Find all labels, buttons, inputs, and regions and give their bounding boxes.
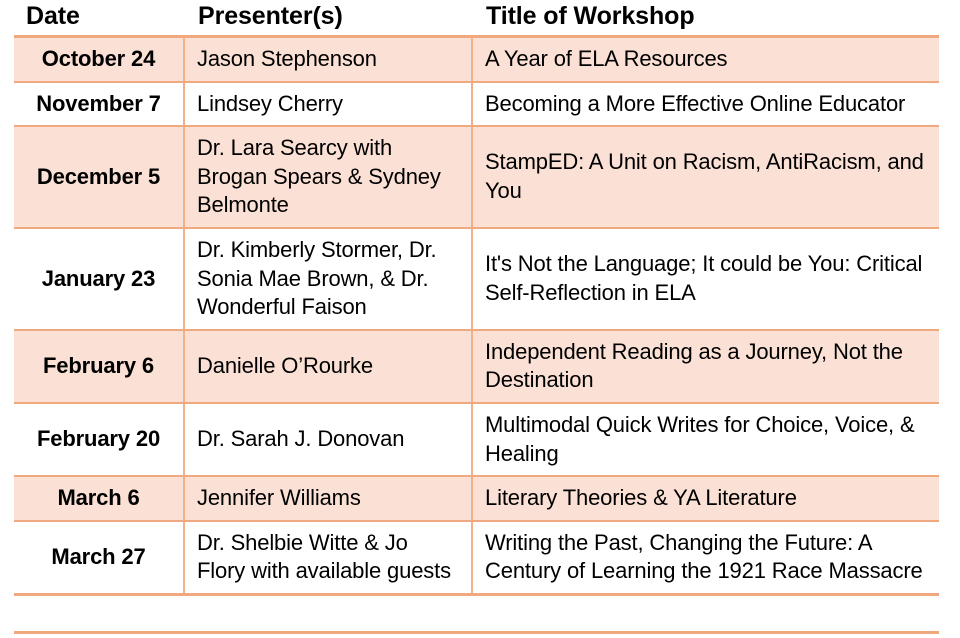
cell-date: February 20 bbox=[14, 403, 184, 476]
cell-title: Writing the Past, Changing the Future: A… bbox=[472, 521, 939, 595]
table-row: March 6 Jennifer Williams Literary Theor… bbox=[14, 476, 939, 521]
header-row: Date Presenter(s) Title of Workshop bbox=[14, 2, 939, 37]
cell-date: January 23 bbox=[14, 228, 184, 330]
table-row: February 20 Dr. Sarah J. Donovan Multimo… bbox=[14, 403, 939, 476]
table-header: Date Presenter(s) Title of Workshop bbox=[14, 2, 939, 37]
workshop-schedule-table: Date Presenter(s) Title of Workshop Octo… bbox=[14, 2, 939, 596]
table-row: March 27 Dr. Shelbie Witte & Jo Flory wi… bbox=[14, 521, 939, 595]
cell-title: It's Not the Language; It could be You: … bbox=[472, 228, 939, 330]
cell-title: Independent Reading as a Journey, Not th… bbox=[472, 330, 939, 403]
table-row: December 5 Dr. Lara Searcy with Brogan S… bbox=[14, 126, 939, 228]
cell-presenters: Dr. Kimberly Stormer, Dr. Sonia Mae Brow… bbox=[184, 228, 472, 330]
workshop-schedule-sheet: Date Presenter(s) Title of Workshop Octo… bbox=[0, 2, 960, 638]
cell-title: Multimodal Quick Writes for Choice, Voic… bbox=[472, 403, 939, 476]
cell-presenters: Lindsey Cherry bbox=[184, 82, 472, 127]
column-header-presenters: Presenter(s) bbox=[184, 2, 472, 37]
table-row: February 6 Danielle O’Rourke Independent… bbox=[14, 330, 939, 403]
cell-presenters: Dr. Lara Searcy with Brogan Spears & Syd… bbox=[184, 126, 472, 228]
cell-presenters: Danielle O’Rourke bbox=[184, 330, 472, 403]
column-header-title: Title of Workshop bbox=[472, 2, 939, 37]
cell-title: A Year of ELA Resources bbox=[472, 37, 939, 82]
table-bottom-rule bbox=[14, 631, 939, 634]
cell-date: October 24 bbox=[14, 37, 184, 82]
cell-title: StampED: A Unit on Racism, AntiRacism, a… bbox=[472, 126, 939, 228]
cell-presenters: Jason Stephenson bbox=[184, 37, 472, 82]
cell-date: March 27 bbox=[14, 521, 184, 595]
cell-title: Literary Theories & YA Literature bbox=[472, 476, 939, 521]
cell-date: December 5 bbox=[14, 126, 184, 228]
cell-date: March 6 bbox=[14, 476, 184, 521]
table-row: November 7 Lindsey Cherry Becoming a Mor… bbox=[14, 82, 939, 127]
cell-presenters: Dr. Sarah J. Donovan bbox=[184, 403, 472, 476]
table-row: January 23 Dr. Kimberly Stormer, Dr. Son… bbox=[14, 228, 939, 330]
table-row: October 24 Jason Stephenson A Year of EL… bbox=[14, 37, 939, 82]
cell-title: Becoming a More Effective Online Educato… bbox=[472, 82, 939, 127]
column-header-date: Date bbox=[14, 2, 184, 37]
table-body: October 24 Jason Stephenson A Year of EL… bbox=[14, 37, 939, 595]
cell-presenters: Jennifer Williams bbox=[184, 476, 472, 521]
cell-presenters: Dr. Shelbie Witte & Jo Flory with availa… bbox=[184, 521, 472, 595]
cell-date: February 6 bbox=[14, 330, 184, 403]
cell-date: November 7 bbox=[14, 82, 184, 127]
